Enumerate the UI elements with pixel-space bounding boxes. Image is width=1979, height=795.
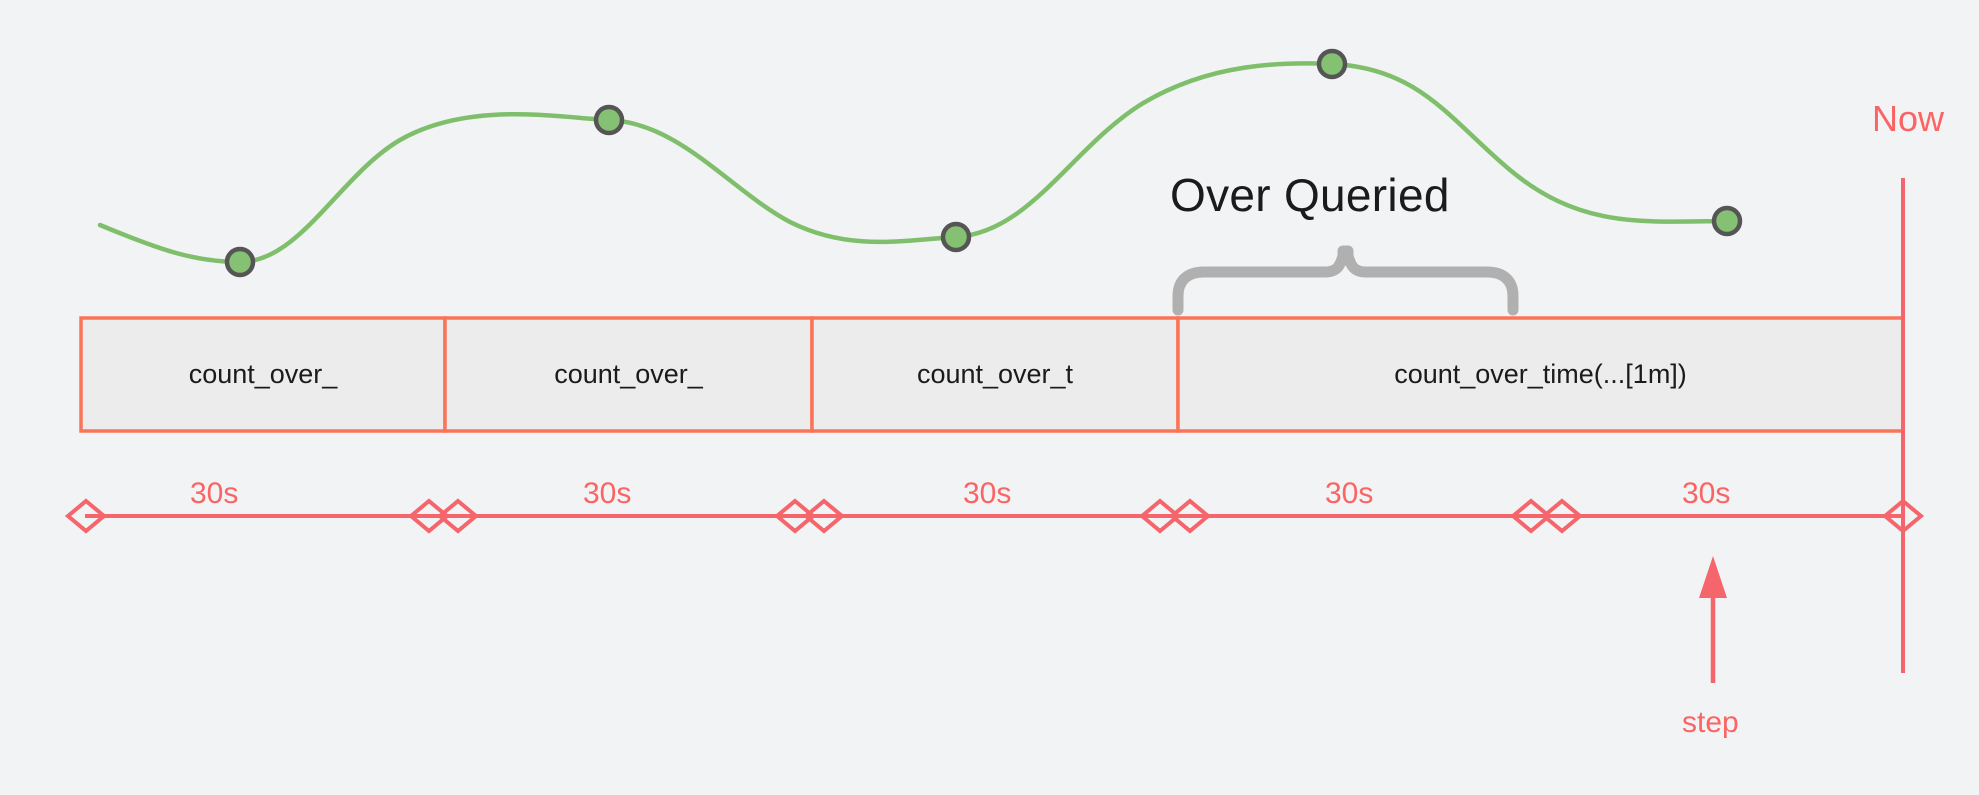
over-queried-brace [1178,251,1513,310]
query-window-boxes [81,318,1903,431]
now-label: Now [1872,98,1944,140]
step-interval-label: 30s [963,477,1011,511]
step-label: step [1682,706,1739,740]
query-window-box-4[interactable] [1178,318,1903,431]
diagram-graphics [0,0,1979,795]
metric-markers [227,51,1740,275]
step-interval-label: 30s [190,477,238,511]
diagram-canvas: count_over_ count_over_ count_over_t cou… [0,0,1979,795]
metric-point[interactable] [227,249,253,275]
metric-point[interactable] [596,107,622,133]
step-interval-label: 30s [1325,477,1373,511]
step-interval-label: 30s [1682,477,1730,511]
metric-point[interactable] [1319,51,1345,77]
metric-curve [100,63,1727,262]
metric-point[interactable] [1714,208,1740,234]
metric-point[interactable] [943,224,969,250]
query-window-box-2[interactable] [445,318,812,431]
query-window-box-3[interactable] [812,318,1178,431]
over-queried-label: Over Queried [1170,168,1450,222]
step-interval-label: 30s [583,477,631,511]
step-arrow [1699,556,1727,683]
query-window-box-1[interactable] [81,318,445,431]
